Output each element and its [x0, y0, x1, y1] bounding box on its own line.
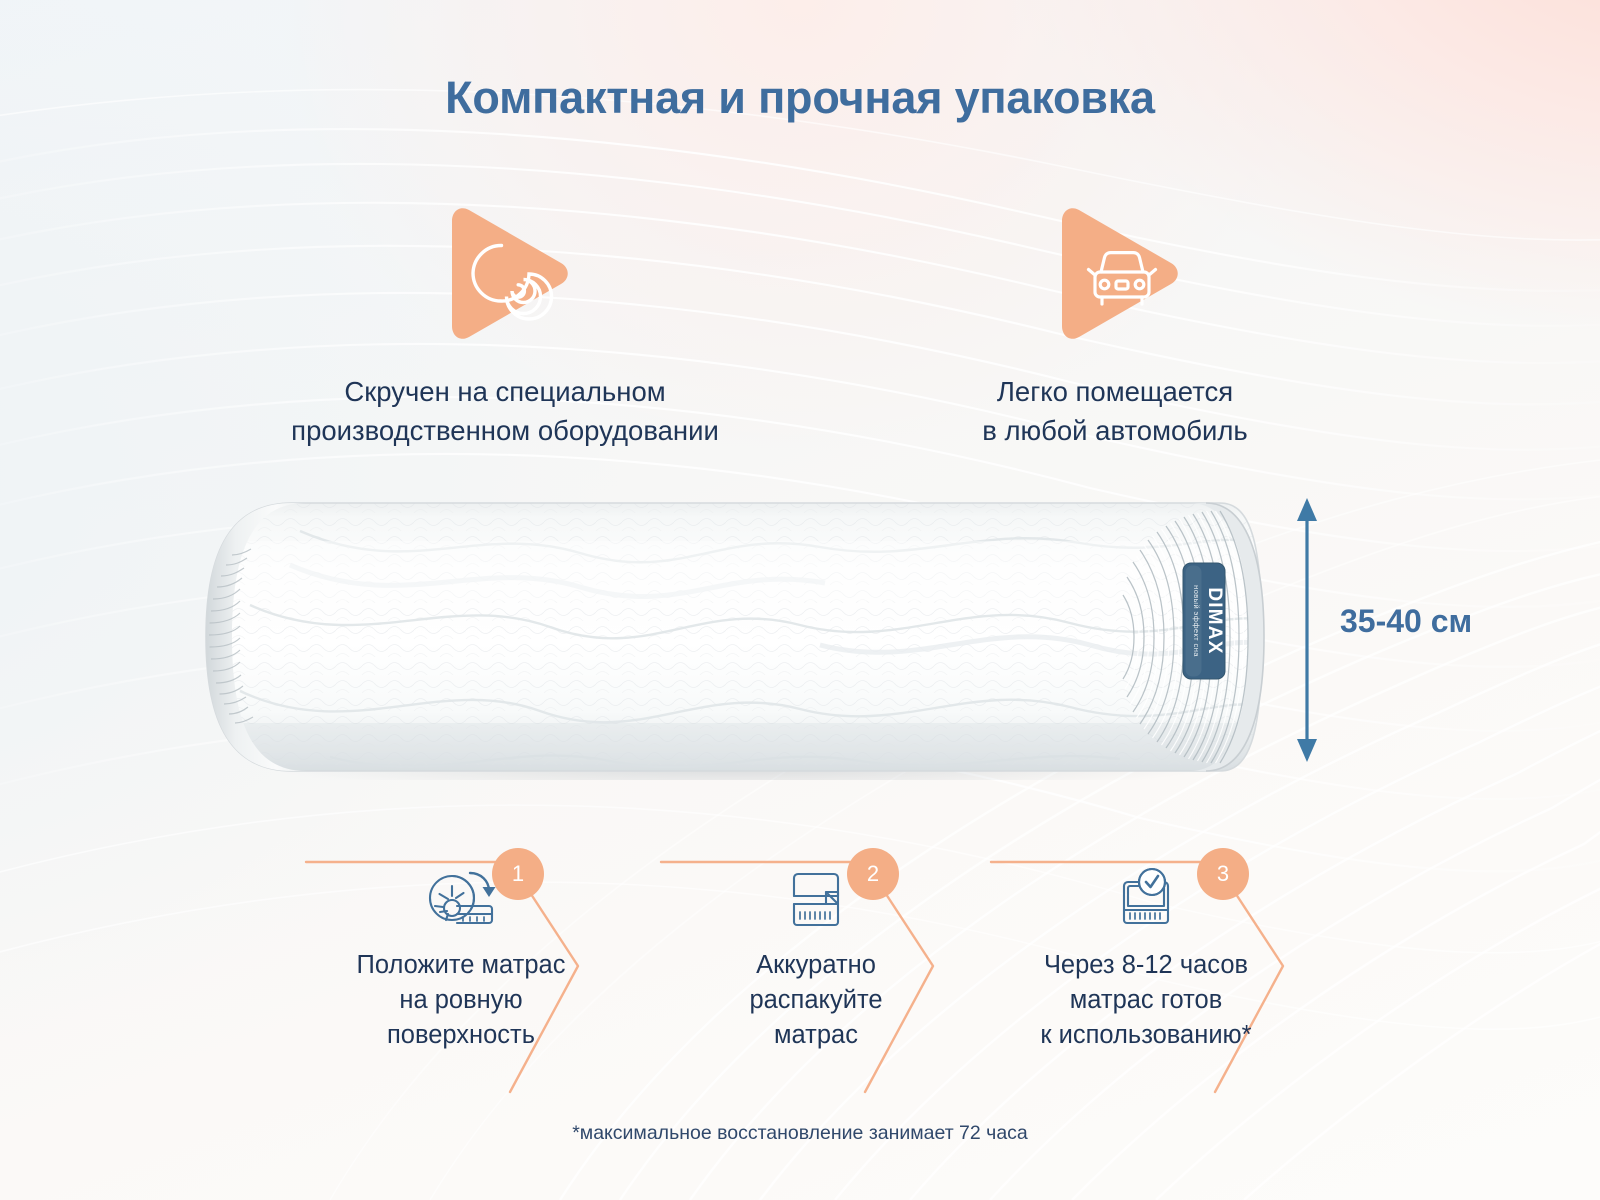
infographic-canvas: Компактная и прочная упаковка Скручен на…: [0, 0, 1600, 1200]
feature-caption: Скручен на специальном производственном …: [205, 372, 805, 450]
step-card-3: 3: [981, 840, 1311, 1096]
page-title: Компактная и прочная упаковка: [0, 72, 1600, 124]
step-icon-wrap: [296, 862, 674, 938]
dimension-indicator: 35-40 см: [1285, 495, 1585, 765]
step-card-2: 2: [651, 840, 981, 1096]
roll-body: [180, 495, 1290, 780]
brand-tag-sub: новый эффект сна: [1192, 585, 1201, 657]
steps-section: 1: [296, 840, 1296, 1096]
rolled-mattress: DIMAX новый эффект сна: [180, 495, 1290, 780]
spiral-roll-icon: [430, 199, 580, 344]
feature-block-rolled: Скручен на специальном производственном …: [205, 196, 805, 450]
unpack-mattress-icon: [778, 862, 854, 938]
car-front-icon: [1040, 199, 1190, 344]
footnote: *максимальное восстановление занимает 72…: [0, 1122, 1600, 1145]
step-caption: Аккуратно распакуйте матрас: [651, 948, 1027, 1054]
feature-icon-wrap: [205, 196, 805, 346]
step-caption: Через 8-12 часов матрас готов к использо…: [981, 948, 1329, 1054]
brand-tag-name: DIMAX: [1204, 587, 1225, 654]
dimension-label: 35-40 см: [1340, 603, 1472, 640]
step-card-1: 1: [296, 840, 626, 1096]
step-icon-wrap: [981, 862, 1351, 938]
feature-icon-wrap: [900, 196, 1330, 346]
brand-tag: DIMAX новый эффект сна: [1183, 563, 1225, 679]
step-caption: Положите матрас на ровную поверхность: [296, 948, 674, 1054]
mattress-ready-check-icon: [1108, 862, 1184, 938]
feature-block-car: Легко помещается в любой автомобиль: [900, 196, 1330, 450]
feature-caption: Легко помещается в любой автомобиль: [900, 372, 1330, 450]
unroll-mattress-icon: [423, 862, 499, 938]
step-icon-wrap: [651, 862, 1029, 938]
